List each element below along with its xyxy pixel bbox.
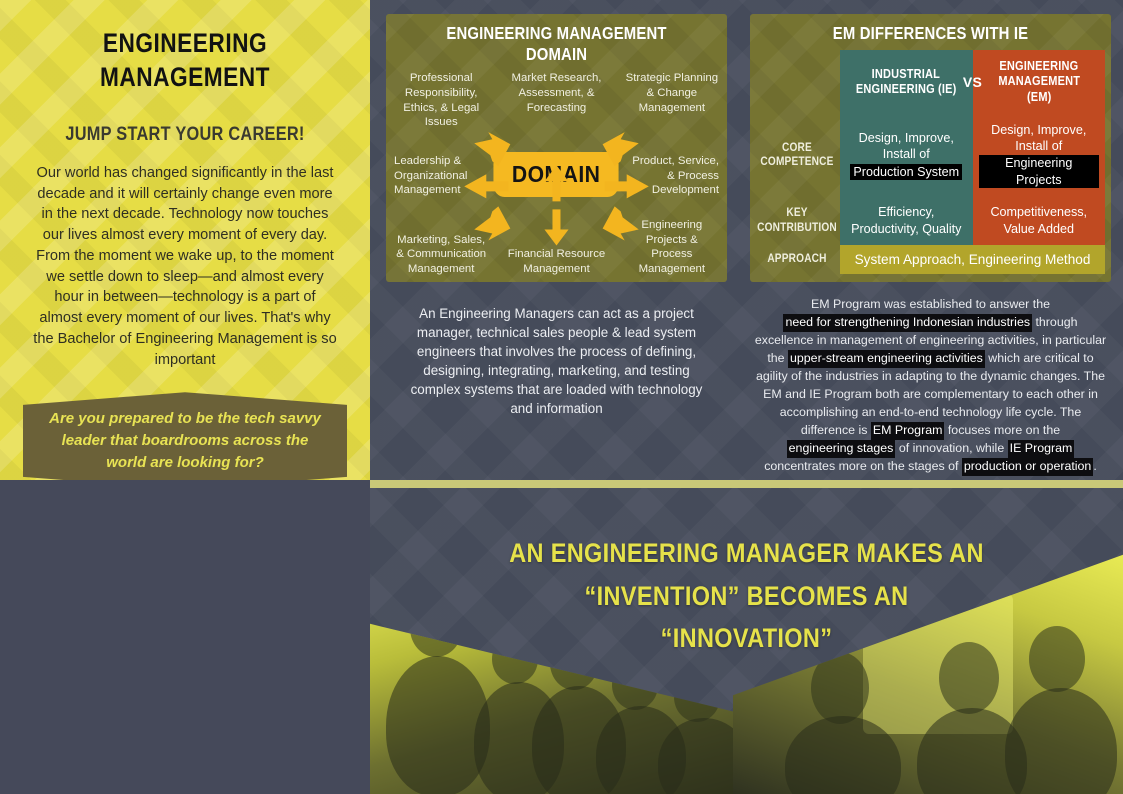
banner-line-3: “INNOVATION” <box>419 617 1074 660</box>
row-label-key-contribution: KEYCONTRIBUTION <box>759 196 835 245</box>
highlighted-phrase: upper-stream engineering activities <box>788 350 985 368</box>
highlighted-phrase: production or operation <box>962 458 1093 476</box>
comparison-table: INDUSTRIAL ENGINEERING (IE) VS ENGINEERI… <box>750 48 1111 282</box>
bottom-banner: AN ENGINEERING MANAGER MAKES AN “INVENTI… <box>370 480 1123 794</box>
intro-panel: ENGINEERING MANAGEMENT JUMP START YOUR C… <box>0 0 370 480</box>
highlighted-phrase: engineering stages <box>787 440 896 458</box>
row-label-approach: APPROACH <box>759 245 835 274</box>
domain-center-box: DOMAIN <box>494 152 619 197</box>
highlight-production-system: Production System <box>850 164 962 180</box>
comparison-card: EM DIFFERENCES WITH IE INDUSTRIAL ENGINE… <box>750 14 1111 282</box>
highlight-engineering-projects: Engineering Projects <box>979 155 1100 188</box>
title-line-1: ENGINEERING <box>48 26 322 60</box>
content-panel: ENGINEERING MANAGEMENT DOMAIN <box>370 0 1123 480</box>
domain-column: ENGINEERING MANAGEMENT DOMAIN <box>370 0 740 480</box>
subtitle: JUMP START YOUR CAREER! <box>45 124 325 146</box>
highlighted-phrase: IE Program <box>1008 440 1075 458</box>
title-line-2: MANAGEMENT <box>48 60 322 94</box>
domain-label-mid-right: Product, Service, & Process Development <box>625 140 719 211</box>
comparison-paragraph: EM Program was established to answer the… <box>750 282 1111 476</box>
domain-diagram: Professional Responsibility, Ethics, & L… <box>386 69 727 282</box>
domain-center-cell: DOMAIN <box>488 140 624 211</box>
vs-badge: VS <box>963 73 982 91</box>
row-label-core-competence: CORECOMPETENCE <box>759 114 835 196</box>
infographic-poster: ENGINEERING MANAGEMENT JUMP START YOUR C… <box>0 0 1123 794</box>
banner-headline: AN ENGINEERING MANAGER MAKES AN “INVENTI… <box>419 488 1074 660</box>
highlighted-phrase: EM Program <box>871 422 945 440</box>
domain-label-bottom-right: Engineering Projects & Process Managemen… <box>625 210 719 281</box>
banner-line-2: “INVENTION” BECOMES AN <box>419 575 1074 618</box>
domain-card: ENGINEERING MANAGEMENT DOMAIN <box>386 14 727 282</box>
cell-ie-key-contribution: Efficiency, Productivity, Quality <box>840 196 973 245</box>
domain-title: ENGINEERING MANAGEMENT DOMAIN <box>412 14 702 69</box>
domain-label-mid-left: Leadership & Organizational Management <box>394 140 488 211</box>
column-header-em: ENGINEERING MANAGEMENT (EM) <box>973 50 1106 114</box>
comparison-column: EM DIFFERENCES WITH IE INDUSTRIAL ENGINE… <box>740 0 1123 480</box>
comparison-title: EM DIFFERENCES WITH IE <box>777 14 1084 48</box>
table-corner-spacer <box>759 50 835 114</box>
domain-label-top-center: Market Research, Assessment, & Forecasti… <box>488 69 624 140</box>
domain-label-bottom-center: Financial Resource Management <box>488 210 624 281</box>
domain-label-top-right: Strategic Planning & Change Management <box>625 69 719 140</box>
cell-em-key-contribution: Competitiveness, Value Added <box>973 196 1106 245</box>
domain-label-bottom-left: Marketing, Sales, & Communication Manage… <box>394 210 488 281</box>
domain-label-top-left: Professional Responsibility, Ethics, & L… <box>394 69 488 140</box>
approach-value: System Approach, Engineering Method <box>840 245 1105 274</box>
cell-em-core-competence: Design, Improve, Install of Engineering … <box>973 114 1106 196</box>
banner-line-1: AN ENGINEERING MANAGER MAKES AN <box>419 532 1074 575</box>
page-title: ENGINEERING MANAGEMENT <box>48 26 322 94</box>
domain-blurb: An Engineering Managers can act as a pro… <box>386 282 727 418</box>
highlighted-phrase: need for strengthening Indonesian indust… <box>783 314 1032 332</box>
callout-text: Are you prepared to be the tech savvy le… <box>47 408 323 473</box>
callout-banner: Are you prepared to be the tech savvy le… <box>22 392 348 480</box>
column-header-ie: INDUSTRIAL ENGINEERING (IE) VS <box>840 50 973 114</box>
cell-ie-core-competence: Design, Improve, Install of Production S… <box>840 114 973 196</box>
intro-paragraph: Our world has changed significantly in t… <box>22 163 348 370</box>
callout-hexagon: Are you prepared to be the tech savvy le… <box>23 392 347 480</box>
